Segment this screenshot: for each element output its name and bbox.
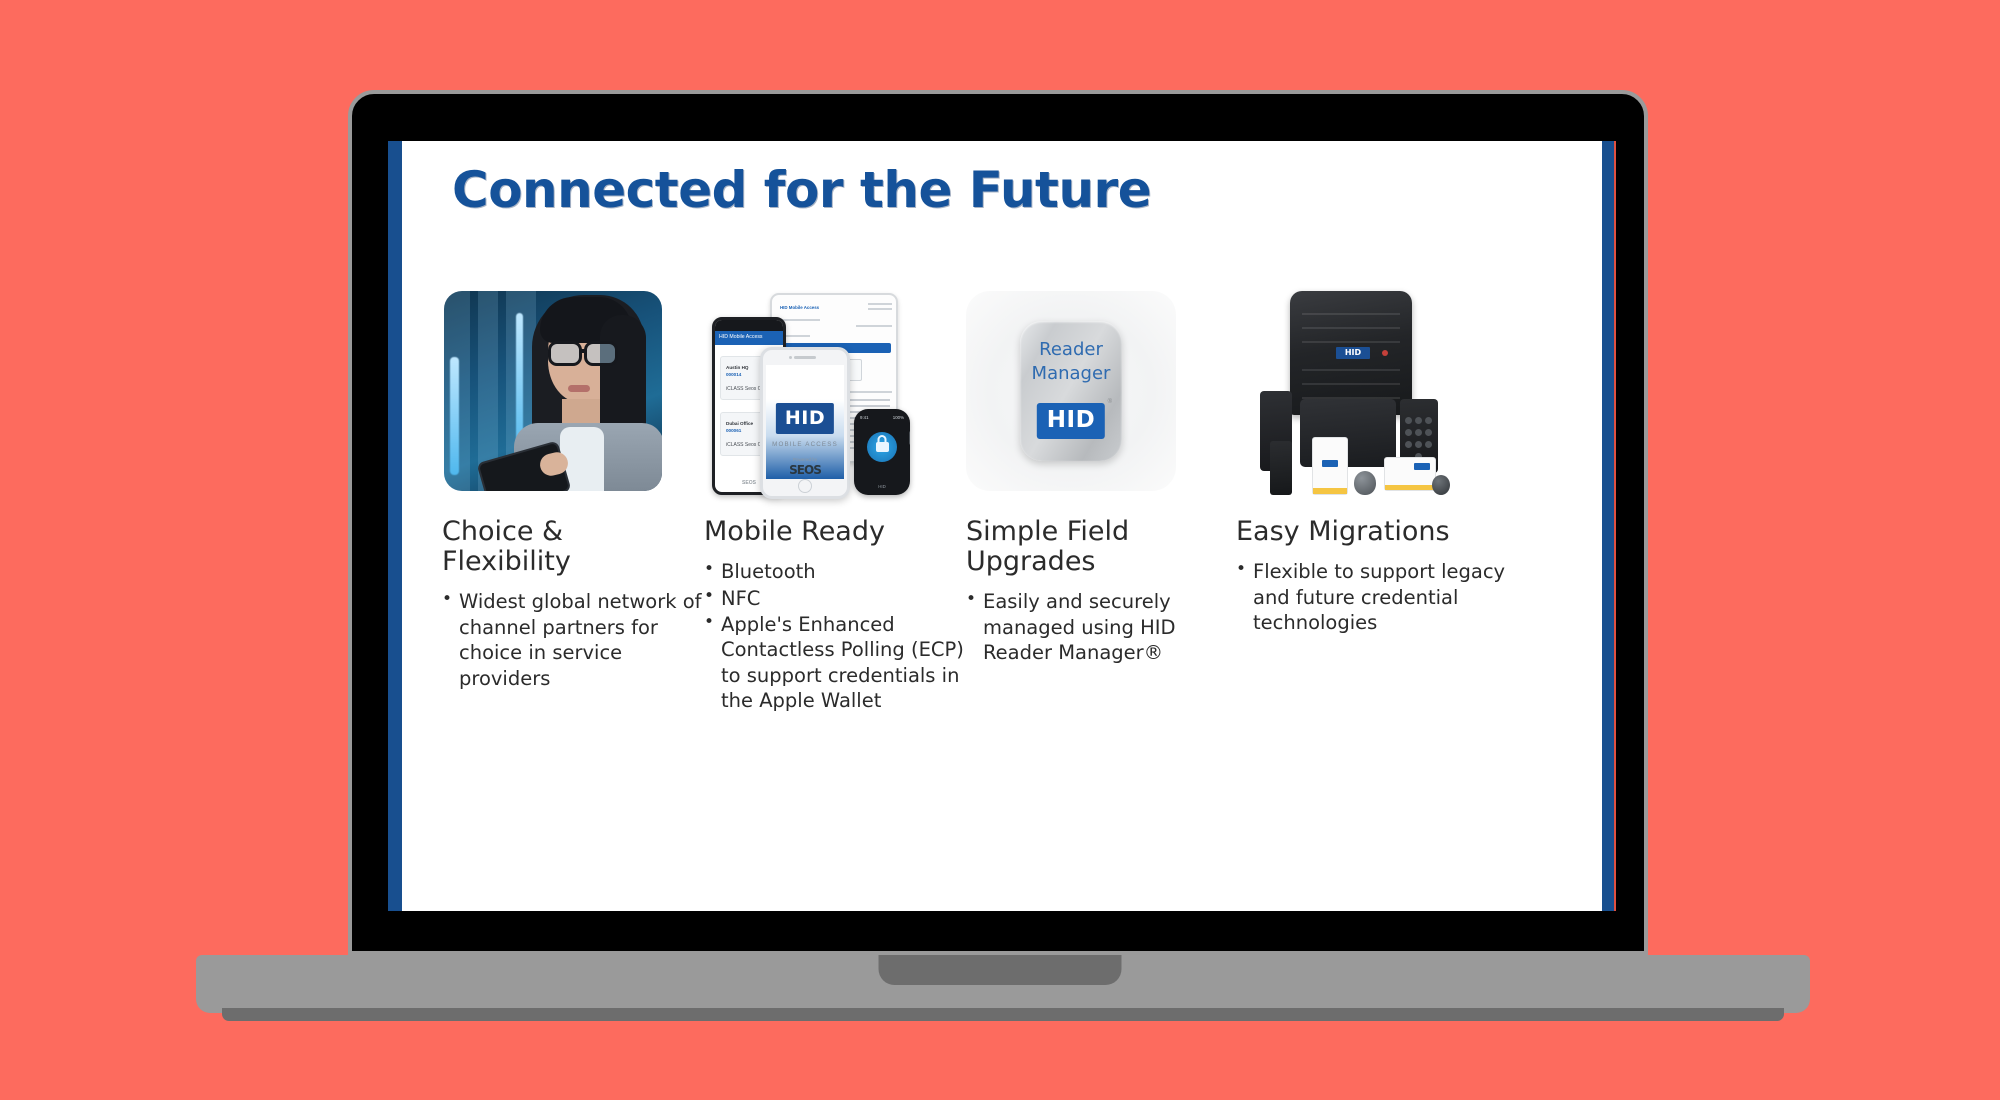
laptop-trackpad-notch [879,955,1122,985]
laptop-foot-shadow [222,1008,1784,1021]
column-bullet-list: Bluetooth NFC Apple's Enhanced Contactle… [704,559,966,713]
seos-logo: SEOS [766,463,844,477]
credential-id: 000014 [726,372,741,377]
hid-logo: HID [1336,347,1370,359]
lips [568,385,590,392]
app-name-line-1: Reader [1020,339,1122,360]
presentation-slide: Connected for the Future [402,141,1602,911]
iphone-screen: HID MOBILE ACCESS Powered by SEOS [766,365,844,479]
lock-shackle [878,435,887,444]
list-item: Widest global network of channel partner… [442,589,704,690]
slide-accent-border-left [388,141,402,911]
eyeglasses-right-lens [584,341,618,366]
woman-with-tablet-photo [444,291,662,491]
figure-simple-field-upgrades: Reader Manager HID ® [966,291,1236,499]
figure-easy-migrations: HID [1236,291,1536,499]
registered-trademark-icon: ® [1108,399,1112,405]
card-accent-stripe [1385,485,1435,490]
column-bullet-list: Flexible to support legacy and future cr… [1236,559,1536,635]
iphone-device: HID MOBILE ACCESS Powered by SEOS [760,347,850,499]
large-card-reader: HID [1290,291,1412,415]
card-accent-stripe [1313,488,1347,494]
list-item: Easily and securely managed using HID Re… [966,589,1236,665]
column-bullet-list: Widest global network of channel partner… [442,589,704,690]
hid-logo: HID [776,403,834,434]
key-fob [1354,471,1376,495]
hid-logo: HID [1037,403,1105,439]
feature-column-choice-flexibility: Choice & Flexibility Widest global netwo… [442,291,704,692]
column-heading: Choice & Flexibility [442,517,704,577]
access-card-horizontal [1384,457,1436,491]
feature-column-simple-field-upgrades: Reader Manager HID ® Simple Field Upgrad… [966,291,1236,667]
smartwatch-device: 9:41 100% HID [854,409,910,495]
access-card-vertical [1312,437,1348,495]
figure-choice-flexibility [442,291,704,499]
watch-battery: 100% [893,415,904,420]
key-fob [1432,475,1450,495]
watch-footer-brand: HID [854,484,910,489]
feature-column-mobile-ready: HID Mobile Access [704,291,966,714]
figure-mobile-ready: HID Mobile Access [704,291,966,499]
app-name-line-2: Manager [1020,363,1122,384]
status-led-icon [1382,350,1388,356]
mini-reader [1270,441,1292,495]
lock-body [876,442,889,452]
slide-edge-hairline [1614,141,1616,911]
laptop-screen: Connected for the Future [388,141,1616,911]
credential-id: 000061 [726,428,741,433]
lock-icon [867,432,897,462]
watch-crown-button [909,431,910,445]
list-item: NFC [704,586,966,611]
feature-columns: Choice & Flexibility Widest global netwo… [442,291,1572,714]
page-title: Connected for the Future [452,161,1151,219]
feature-column-easy-migrations: HID [1236,291,1536,636]
eyeglasses-left-lens [548,341,582,366]
credential-title: Dubai Office [726,421,753,426]
earpiece-speaker [794,356,816,359]
column-bullet-list: Easily and securely managed using HID Re… [966,589,1236,665]
reader-manager-app-icon: Reader Manager HID ® [966,291,1176,491]
hid-chip-icon [1322,460,1338,467]
eyeglasses-bridge [581,349,587,353]
home-button [798,479,812,493]
column-heading: Easy Migrations [1236,517,1536,547]
app-icon-tile: Reader Manager HID ® [1020,321,1122,461]
powered-by-label: Powered by [766,457,844,462]
list-item: Flexible to support legacy and future cr… [1236,559,1536,635]
laptop-mockup: Connected for the Future [0,0,2000,1100]
hid-card-readers-photo: HID [1236,291,1486,499]
column-heading: Simple Field Upgrades [966,517,1236,577]
list-item: Bluetooth [704,559,966,584]
hid-mobile-access-devices-photo: HID Mobile Access [704,291,944,499]
hid-chip-icon [1414,463,1430,470]
android-status-bar [715,320,783,331]
front-camera-icon [789,356,792,359]
watch-clock: 9:41 [860,415,869,420]
column-heading: Mobile Ready [704,517,966,547]
android-app-title: HID Mobile Access [719,334,763,340]
list-item: Apple's Enhanced Contactless Polling (EC… [704,612,966,713]
mobile-access-label: MOBILE ACCESS [766,441,844,448]
credential-title: Austin HQ [726,365,748,370]
